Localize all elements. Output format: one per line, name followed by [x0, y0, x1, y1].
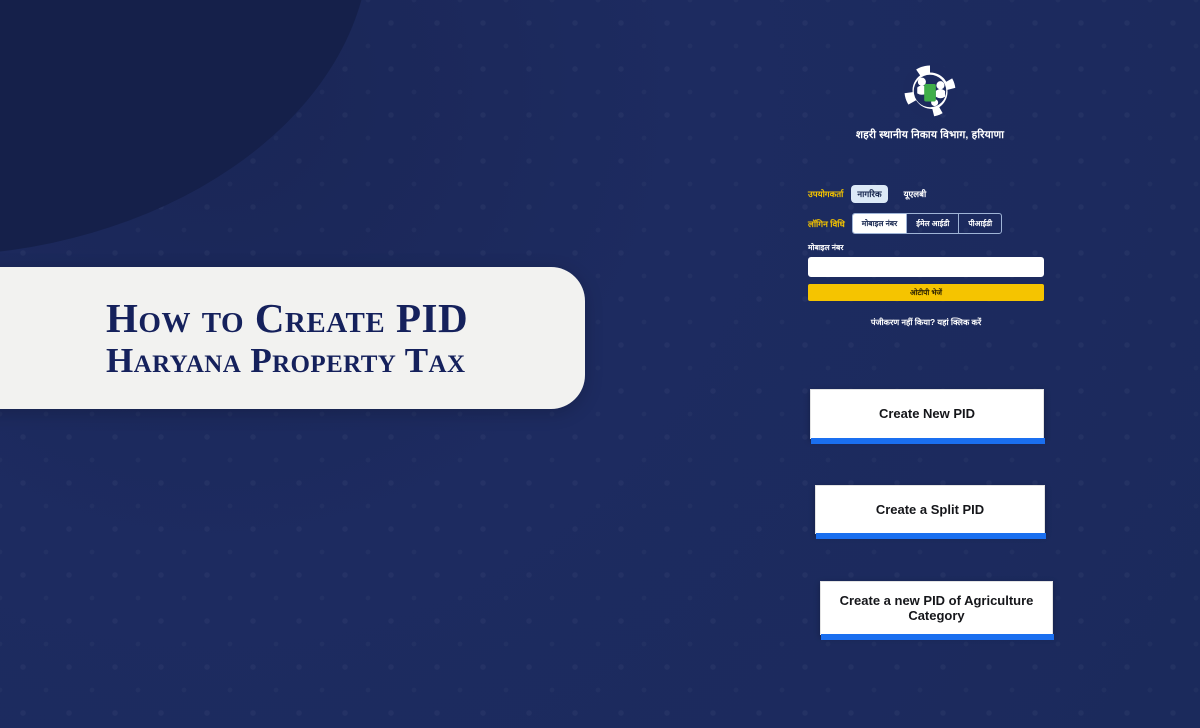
user-role-tabs: नागरिक यूएलबी: [851, 185, 932, 203]
screenshot-canvas: How to Create PID Haryana Property Tax: [0, 0, 1200, 728]
user-role-row: उपयोगकर्ता नागरिक यूएलबी: [808, 183, 1044, 205]
card-accent-bar: [811, 438, 1045, 444]
role-tab-citizen[interactable]: नागरिक: [851, 185, 887, 203]
send-otp-button[interactable]: ओटीपी भेजें: [808, 284, 1044, 301]
portal-column: शहरी स्थानीय निकाय विभाग, हरियाणा उपयोगक…: [770, 0, 1090, 728]
card-label: Create a new PID of Agriculture Category: [821, 593, 1052, 624]
register-link[interactable]: पंजीकरण नहीं किया? यहां क्लिक करें: [808, 317, 1044, 328]
create-split-pid-card[interactable]: Create a Split PID: [815, 485, 1045, 534]
card-label: Create a Split PID: [866, 502, 994, 517]
method-tab-email[interactable]: ईमेल आईडी: [907, 214, 959, 233]
ulb-haryana-circular-emblem-icon: [901, 62, 959, 120]
login-method-tabs: मोबाइल नंबर ईमेल आईडी पीआईडी: [852, 213, 1002, 234]
mobile-number-input[interactable]: [808, 257, 1044, 277]
user-role-label: उपयोगकर्ता: [808, 188, 843, 200]
create-new-pid-card[interactable]: Create New PID: [810, 389, 1044, 439]
card-accent-bar: [821, 634, 1054, 640]
method-tab-mobile[interactable]: मोबाइल नंबर: [853, 214, 907, 233]
login-method-label: लॉगिन विधि: [808, 218, 845, 230]
login-form: उपयोगकर्ता नागरिक यूएलबी लॉगिन विधि मोबा…: [808, 183, 1044, 328]
page-title-line2: Haryana Property Tax: [106, 342, 585, 381]
card-accent-bar: [816, 533, 1046, 539]
brand-block: शहरी स्थानीय निकाय विभाग, हरियाणा: [770, 62, 1090, 142]
headline-panel: How to Create PID Haryana Property Tax: [0, 267, 585, 409]
role-tab-ulb[interactable]: यूएलबी: [898, 185, 933, 203]
page-title-line1: How to Create PID: [106, 296, 585, 340]
mobile-number-label: मोबाइल नंबर: [808, 243, 1044, 253]
method-tab-pid[interactable]: पीआईडी: [959, 214, 1001, 233]
brand-caption: शहरी स्थानीय निकाय विभाग, हरियाणा: [770, 128, 1090, 142]
create-agriculture-pid-card[interactable]: Create a new PID of Agriculture Category: [820, 581, 1053, 635]
login-method-row: लॉगिन विधि मोबाइल नंबर ईमेल आईडी पीआईडी: [808, 213, 1044, 234]
card-label: Create New PID: [869, 406, 985, 421]
